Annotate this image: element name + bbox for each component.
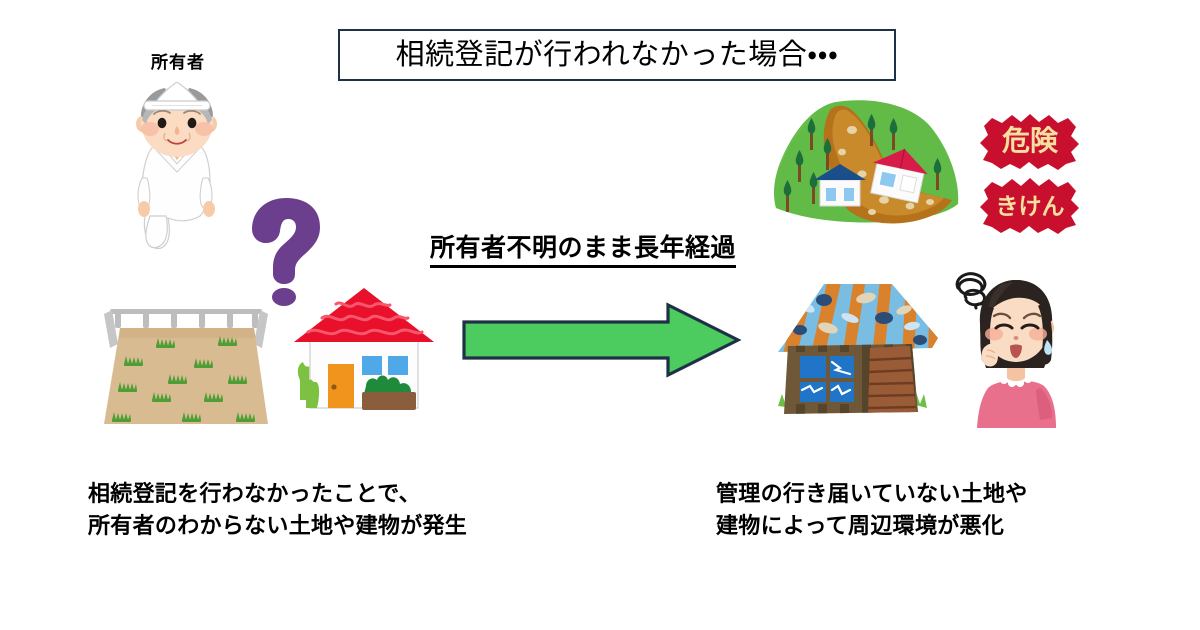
caption-left: 相続登記を行わなかったことで、 所有者のわからない土地や建物が発生 [88, 478, 467, 542]
owner-label: 所有者 [118, 48, 238, 73]
abandoned-house-illustration [762, 278, 950, 434]
danger-badge-kanji: 危険 [976, 112, 1084, 170]
caption-right: 管理の行き届いていない土地や 建物によって周辺環境が悪化 [716, 478, 1028, 542]
danger-badge-hiragana-text: きけん [996, 193, 1065, 219]
ghost-owner-illustration [118, 82, 236, 252]
house-illustration [282, 280, 446, 432]
title-box: 相続登記が行われなかった場合・・・ [338, 29, 896, 81]
farm-field-illustration [88, 296, 286, 432]
landslide-illustration [766, 96, 966, 242]
page-title: 相続登記が行われなかった場合・・・ [396, 41, 839, 70]
slide-canvas: 相続登記が行われなかった場合・・・ 所有者 [0, 0, 1200, 630]
transition-arrow [460, 300, 742, 380]
passage-of-time-label: 所有者不明のまま長年経過 [430, 233, 736, 268]
worried-woman-illustration [952, 262, 1078, 434]
danger-badge-kanji-text: 危険 [1002, 125, 1059, 156]
danger-badge-hiragana: きけん [976, 176, 1084, 234]
